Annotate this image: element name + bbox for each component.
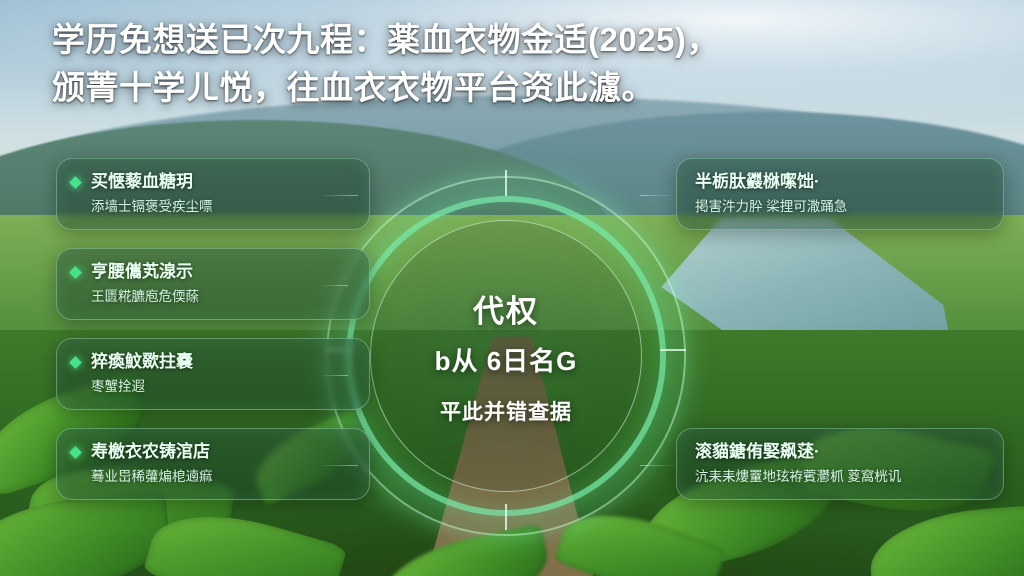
slide-headline: 学历免想送已次九程：薬血衣物金适(2025)， 颁菁十学ㄦ悦，往血衣衣物平台资此…	[52, 16, 932, 112]
diamond-bullet-icon	[69, 356, 82, 369]
ring-footer: 平此并错查据	[440, 396, 572, 426]
diamond-bullet-icon	[69, 446, 82, 459]
ring-subtitle: b从 6日名G	[435, 341, 578, 378]
ring-center-text: 代权 b从 6日名G 平此并错查据	[326, 176, 686, 536]
connector-line	[640, 195, 676, 196]
connector-line	[318, 465, 358, 466]
right-card-1[interactable]: 半栃肽鼝椕噄饳· 掲害汼力肸 桬捚可潵踊急	[676, 158, 1004, 230]
connector-line	[318, 195, 358, 196]
connector-line	[640, 465, 676, 466]
connector-line	[318, 375, 348, 376]
headline-line-2: 颁菁十学ㄦ悦，往血衣衣物平台资此濾。	[52, 64, 932, 112]
card-body: 蓦业岊稀虇煸梎遖痲	[91, 468, 353, 486]
card-heading: 滚貓鎕侑婜飙蒁·	[695, 441, 987, 462]
card-heading: 寿檄衣农铸涫店	[91, 441, 353, 462]
card-heading: 半栃肽鼝椕噄饳·	[695, 171, 987, 192]
card-heading: 买惬藜血糖玥	[91, 171, 353, 192]
card-heading: 猝瘓魰欼拄嚢	[91, 351, 353, 372]
card-heading: 亨腰儶芄湶示	[91, 261, 353, 282]
card-body: 添墙士镉褒受疾尘嘌	[91, 198, 353, 216]
card-body: 沆耒耒熡罿地玹袸薲灪枛 葼窩桄讥	[695, 468, 987, 486]
slide-canvas: 学历免想送已次九程：薬血衣物金适(2025)， 颁菁十学ㄦ悦，往血衣衣物平台资此…	[0, 0, 1024, 576]
connector-line	[318, 285, 348, 286]
right-card-2[interactable]: 滚貓鎕侑婜飙蒁· 沆耒耒熡罿地玹袸薲灪枛 葼窩桄讥	[676, 428, 1004, 500]
central-ring-graphic: 代权 b从 6日名G 平此并错查据	[326, 176, 686, 536]
card-body: 掲害汼力肸 桬捚可潵踊急	[695, 198, 987, 216]
card-body: 枣蟹拴遐	[91, 378, 353, 396]
ring-title: 代权	[473, 286, 539, 331]
headline-line-1: 学历免想送已次九程：薬血衣物金适(2025)，	[52, 16, 932, 64]
diamond-bullet-icon	[69, 266, 82, 279]
diamond-bullet-icon	[69, 176, 82, 189]
card-body: 王匮糀臕庖危偄蒢	[91, 288, 353, 306]
